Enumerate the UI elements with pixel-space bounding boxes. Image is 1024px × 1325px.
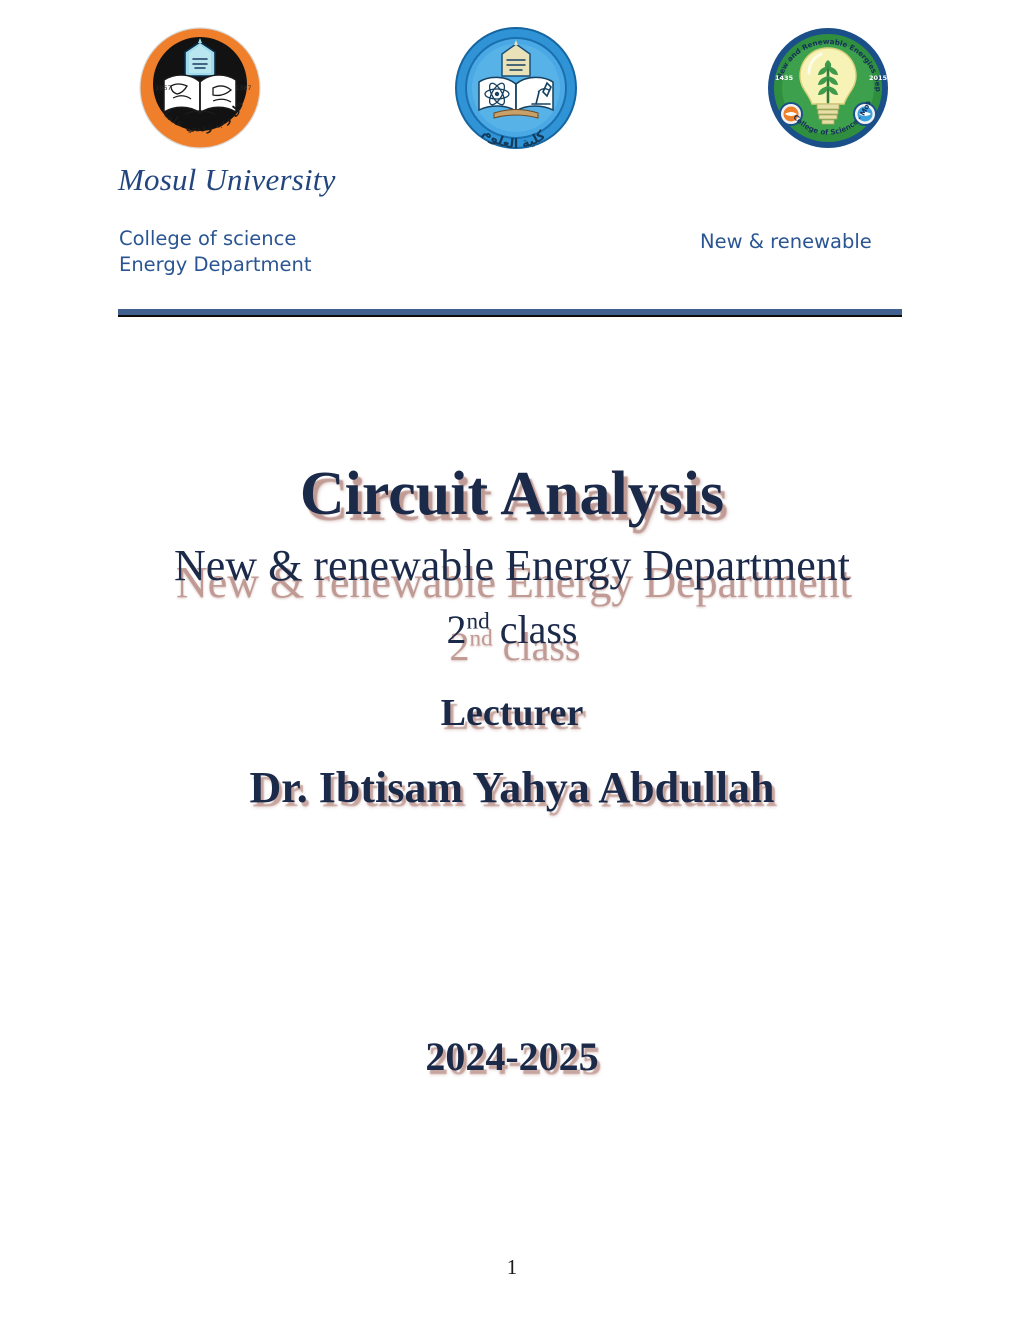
- svg-text:1387: 1387: [235, 84, 252, 92]
- lecturer-name: Dr. Ibtisam Yahya Abdullah: [0, 755, 1024, 821]
- svg-text:1967: 1967: [155, 84, 172, 92]
- header-university-name: Mosul University: [118, 162, 336, 198]
- logo-row: وقل رب زدني علما 1967 1387: [0, 18, 1024, 173]
- academic-year: 2024-2025: [0, 1033, 1024, 1080]
- cover-page: وقل رب زدني علما 1967 1387: [0, 0, 1024, 1325]
- svg-text:2015: 2015: [869, 74, 888, 82]
- new-renewable-energies-seal-icon: New and Renewable Energies Department Co…: [761, 18, 896, 158]
- header-divider-rule: [118, 309, 902, 317]
- role-label: Lecturer: [0, 683, 1024, 743]
- header-rule-edge: [118, 315, 902, 317]
- class-number: 2: [447, 607, 467, 652]
- header-left-block: College of science Energy Department: [119, 226, 311, 278]
- svg-text:1435: 1435: [775, 74, 794, 82]
- class-line: 2nd class: [0, 599, 1024, 661]
- title-block: Circuit Analysis New & renewable Energy …: [0, 455, 1024, 821]
- mosul-university-seal-icon: وقل رب زدني علما 1967 1387: [133, 18, 268, 158]
- department-line: New & renewable Energy Department: [0, 533, 1024, 599]
- page-title: Circuit Analysis: [0, 455, 1024, 533]
- page-number: 1: [0, 1255, 1024, 1280]
- class-word: class: [490, 607, 578, 652]
- header-right-block: New & renewable: [700, 229, 872, 255]
- class-ordinal-suffix: nd: [467, 609, 490, 635]
- header-department-line: Energy Department: [119, 252, 311, 278]
- header-new-renewable-line: New & renewable: [700, 229, 872, 255]
- college-of-science-seal-icon: كلية العلوم: [444, 18, 589, 158]
- header-college-line: College of science: [119, 226, 311, 252]
